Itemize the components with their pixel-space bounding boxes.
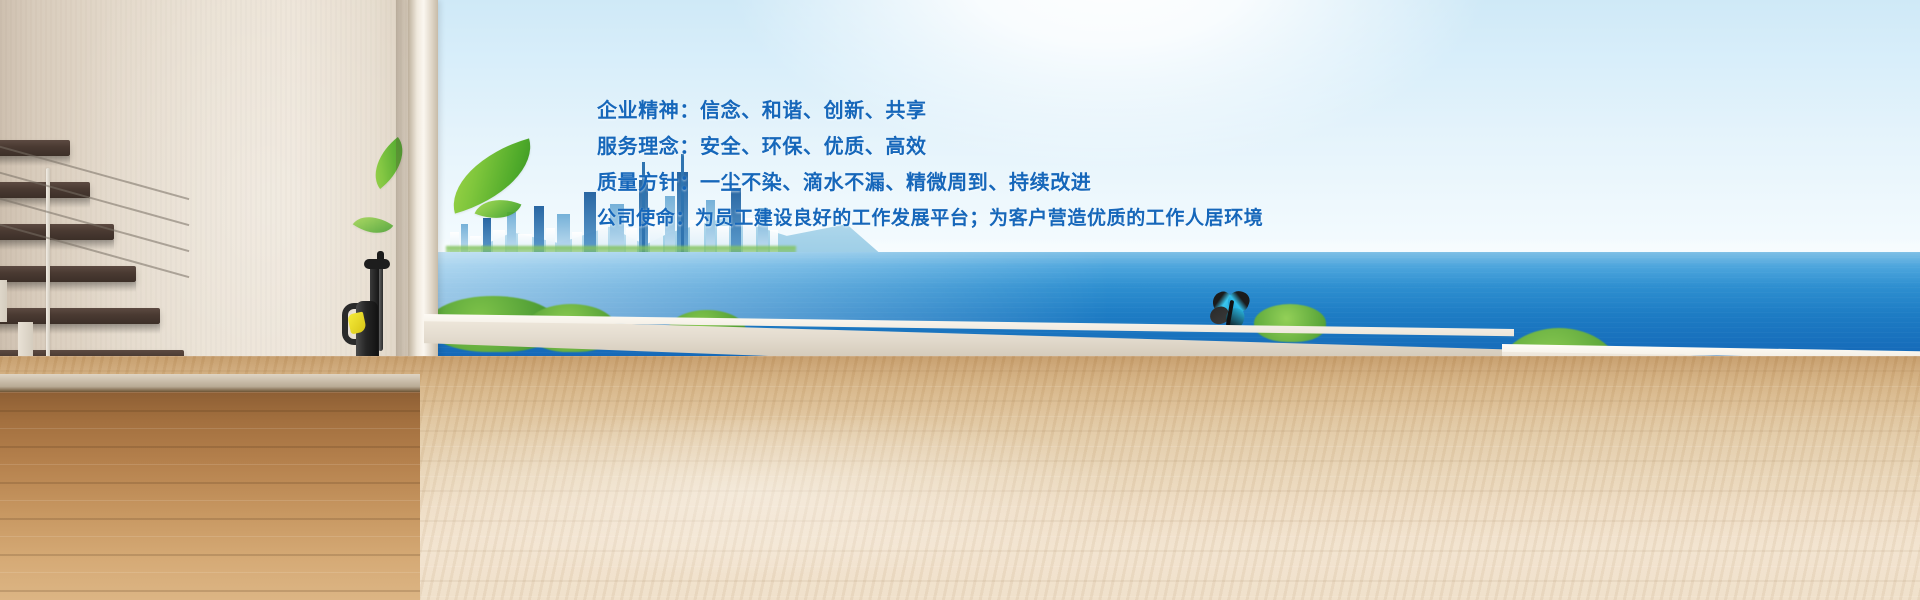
wood-floor-foreground: [0, 392, 420, 600]
floor-sheen: [430, 420, 1560, 600]
foliage-cluster: [1254, 304, 1326, 342]
stair-support: [0, 280, 7, 322]
copy-line-mission: 公司使命：为员工建设良好的工作发展平台；为客户营造优质的工作人居环境: [597, 200, 1417, 236]
copy-line-quality: 质量方针：一尘不染、滴水不漏、精微周到、持续改进: [597, 164, 1417, 200]
copy-line-spirit: 企业精神：信念、和谐、创新、共享: [597, 92, 1417, 128]
culture-copy-block: 企业精神：信念、和谐、创新、共享 服务理念：安全、环保、优质、高效 质量方针：一…: [597, 92, 1417, 236]
copy-line-service: 服务理念：安全、环保、优质、高效: [597, 128, 1417, 164]
floor-plank-lines: [0, 392, 420, 600]
banner-stage: 企业精神：信念、和谐、创新、共享 服务理念：安全、环保、优质、高效 质量方针：一…: [0, 0, 1920, 600]
washer-handle-grip: [364, 259, 390, 269]
stair-step: [0, 266, 136, 282]
wall-baseboard: [0, 374, 420, 392]
